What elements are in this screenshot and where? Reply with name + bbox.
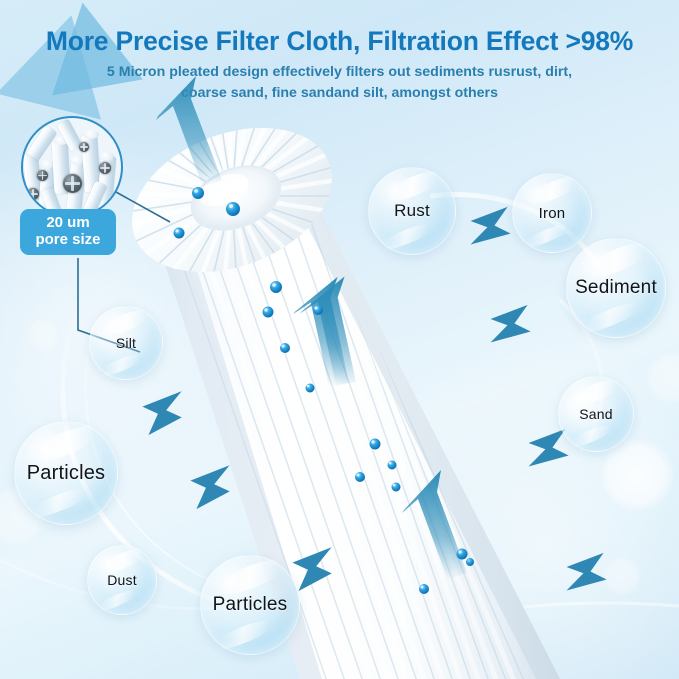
contaminant-bubble-iron: Iron xyxy=(512,173,592,253)
contaminant-bubble-particles: Particles xyxy=(14,421,118,525)
product-infographic: More Precise Filter Cloth, Filtration Ef… xyxy=(0,0,679,679)
trapped-particle xyxy=(37,170,48,181)
trapped-particle xyxy=(79,142,89,152)
contaminant-bubble-label: Particles xyxy=(213,594,288,616)
contaminant-bubble-label: Iron xyxy=(539,205,566,222)
trapped-particle xyxy=(27,188,39,200)
contaminant-bubble-label: Rust xyxy=(394,201,430,221)
contaminant-bubble-label: Sediment xyxy=(575,277,657,299)
contaminant-bubble-label: Dust xyxy=(107,572,137,588)
trapped-particle xyxy=(99,162,111,174)
contaminant-bubble-label: Sand xyxy=(579,406,613,422)
contaminant-bubble-label: Particles xyxy=(27,462,106,485)
contaminant-bubble-silt: Silt xyxy=(89,306,163,380)
contaminant-bubble-sand: Sand xyxy=(558,376,634,452)
contaminant-bubble-particles: Particles xyxy=(200,555,300,655)
contaminant-bubble-label: Silt xyxy=(116,335,136,351)
pore-size-value: 20 um xyxy=(46,214,89,231)
trapped-particle xyxy=(63,174,82,193)
contaminant-bubble-sediment: Sediment xyxy=(566,238,666,338)
pore-size-badge: 20 um pore size xyxy=(20,209,116,255)
contaminant-bubble-dust: Dust xyxy=(87,545,157,615)
pore-size-unit-label: pore size xyxy=(35,231,100,248)
contaminant-bubble-rust: Rust xyxy=(368,167,456,255)
magnified-fiber-inset xyxy=(21,116,123,218)
